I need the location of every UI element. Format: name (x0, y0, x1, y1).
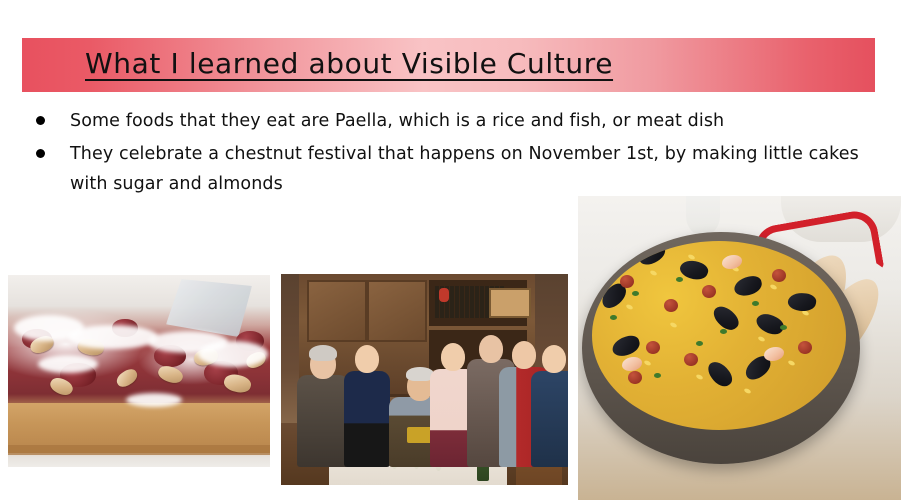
almond (114, 366, 140, 389)
chorizo-slice (664, 299, 678, 312)
shrimp (764, 347, 784, 361)
page-title: What I learned about Visible Culture (85, 47, 613, 80)
person-head (441, 343, 465, 371)
chorizo-slice (798, 341, 812, 354)
framed-picture (489, 288, 531, 318)
mussel (704, 357, 735, 390)
bullet-dot-icon (36, 139, 70, 161)
shrimp (598, 253, 618, 267)
family-celebration-photo (281, 274, 568, 485)
saffron-rice (592, 241, 846, 430)
slide-canvas: { "slide": { "title": "What I learned ab… (0, 0, 901, 500)
person-body (344, 371, 390, 467)
shrimp (722, 255, 742, 269)
chorizo-slice (620, 275, 634, 288)
chorizo-slice (702, 285, 716, 298)
person-head (355, 345, 379, 373)
person (297, 345, 349, 467)
almond (222, 372, 253, 396)
powdered-sugar (198, 341, 268, 367)
list-item: They celebrate a chestnut festival that … (36, 139, 876, 199)
parsley (676, 277, 683, 282)
cutting-board-edge (8, 445, 270, 455)
parsley (752, 301, 759, 306)
person-body (531, 371, 568, 467)
powdered-sugar (38, 355, 98, 373)
list-item-text: They celebrate a chestnut festival that … (70, 139, 876, 199)
cabinet-door (307, 280, 367, 342)
powdered-sugar (68, 325, 158, 349)
decorative-figurine (439, 288, 449, 302)
almond (156, 363, 185, 386)
paella-photo (578, 196, 901, 500)
background-wine-glass (686, 196, 720, 236)
parsley (654, 373, 661, 378)
chorizo-slice (684, 353, 698, 366)
mussel (636, 241, 669, 268)
mussel (753, 309, 786, 339)
person-hair (309, 345, 337, 361)
paella-pan (582, 232, 860, 464)
person-body (297, 375, 349, 467)
mussel (610, 333, 642, 358)
list-item: Some foods that they eat are Paella, whi… (36, 106, 876, 136)
cabinet-door (367, 280, 427, 342)
parsley (610, 315, 617, 320)
bullet-list: Some foods that they eat are Paella, whi… (36, 106, 876, 202)
person (343, 335, 391, 467)
shrimp (622, 357, 642, 371)
bullet-dot-icon (36, 106, 70, 128)
chorizo-slice (646, 341, 660, 354)
chestnut-cake-photo (8, 275, 270, 467)
powdered-sugar (126, 393, 182, 407)
person-head (542, 345, 566, 373)
parsley (696, 341, 703, 346)
mussel (787, 291, 817, 313)
person (531, 333, 568, 467)
parsley (780, 325, 787, 330)
chorizo-slice (772, 269, 786, 282)
parsley (632, 291, 639, 296)
cake-background-bag (166, 279, 252, 337)
mussel (732, 274, 763, 297)
chorizo-slice (628, 371, 642, 384)
parsley (720, 329, 727, 334)
list-item-text: Some foods that they eat are Paella, whi… (70, 106, 876, 136)
